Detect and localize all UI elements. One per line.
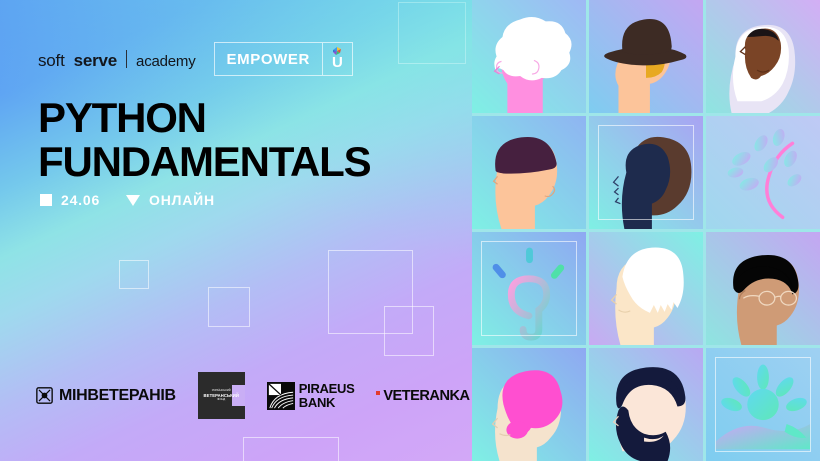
title-line-1: PYTHON xyxy=(38,96,370,140)
decorative-square xyxy=(208,287,250,327)
decorative-square xyxy=(384,306,434,356)
event-format: ОНЛАЙН xyxy=(149,192,215,208)
portrait-white-bob xyxy=(589,232,703,345)
partner-logos: МІНВЕТЕРАНІВ УКРАЇНСЬКИЙ ВЕТЕРАНСЬКИЙ ФО… xyxy=(36,372,472,419)
motif-sun-landscape xyxy=(706,348,820,461)
empower-word: EMPOWER xyxy=(215,43,322,75)
ministry-emblem-icon xyxy=(36,387,53,404)
partner-minveteraniv: МІНВЕТЕРАНІВ xyxy=(36,387,176,405)
portrait-navy-beard xyxy=(589,348,703,461)
event-date-item: 24.06 xyxy=(40,192,100,208)
left-content-panel: softserve academy EMPOWER U xyxy=(0,0,472,461)
portrait-purple-cap xyxy=(472,116,586,229)
softserve-academy-word: academy xyxy=(136,53,195,70)
partner-veteran-fund: УКРАЇНСЬКИЙ ВЕТЕРАНСЬКИЙ ФОНД xyxy=(198,372,245,419)
softserve-serve: serve xyxy=(74,51,117,71)
partner-veteranka-label: VETERANKA xyxy=(384,387,470,404)
page-title: PYTHON FUNDAMENTALS xyxy=(38,96,370,184)
event-format-item: ОНЛАЙН xyxy=(126,192,215,208)
decorative-square xyxy=(243,437,339,461)
title-line-2: FUNDAMENTALS xyxy=(38,140,370,184)
brand-row: softserve academy EMPOWER U xyxy=(38,42,353,76)
partner-veteranka: VETERANKA xyxy=(376,387,471,404)
empower-u-letter: U xyxy=(332,54,343,71)
empower-u-logo: EMPOWER U xyxy=(214,42,353,76)
softserve-academy-logo: softserve academy xyxy=(38,48,196,71)
promo-banner: softserve academy EMPOWER U xyxy=(0,0,820,461)
partner-veteran-fund-label: УКРАЇНСЬКИЙ ВЕТЕРАНСЬКИЙ ФОНД xyxy=(200,389,242,402)
partner-piraeus-bank: PIRAEUS BANK xyxy=(267,382,355,410)
event-date: 24.06 xyxy=(61,192,100,208)
decorative-square xyxy=(328,250,413,334)
portrait-white-headscarf xyxy=(706,0,820,113)
veteranka-accent-icon xyxy=(376,391,380,395)
logo-divider xyxy=(126,50,127,68)
portrait-afro-navy xyxy=(589,116,703,229)
empower-u-cell: U xyxy=(322,43,352,75)
square-icon xyxy=(40,194,52,206)
piraeus-emblem-icon xyxy=(267,382,295,410)
veteran-fund-footer: ФОНД xyxy=(200,398,242,402)
triangle-icon xyxy=(126,195,140,206)
portrait-pink-bun xyxy=(472,348,586,461)
motif-branch-leaves xyxy=(706,116,820,229)
piraeus-line-2: BANK xyxy=(299,396,355,410)
decorative-square xyxy=(119,260,149,289)
portrait-white-curly-hair xyxy=(472,0,586,113)
softserve-soft: soft xyxy=(38,51,65,71)
partner-piraeus-label: PIRAEUS BANK xyxy=(299,382,355,409)
portrait-brown-hat xyxy=(589,0,703,113)
piraeus-line-1: PIRAEUS xyxy=(299,382,355,396)
portrait-glasses-black-hair xyxy=(706,232,820,345)
motif-lightbulb-idea xyxy=(472,232,586,345)
partner-minveteraniv-label: МІНВЕТЕРАНІВ xyxy=(59,387,176,405)
decorative-square xyxy=(398,2,466,64)
veteran-fund-name: ВЕТЕРАНСЬКИЙ xyxy=(204,393,239,398)
portrait-grid xyxy=(472,0,820,461)
event-meta-row: 24.06 ОНЛАЙН xyxy=(40,192,215,208)
